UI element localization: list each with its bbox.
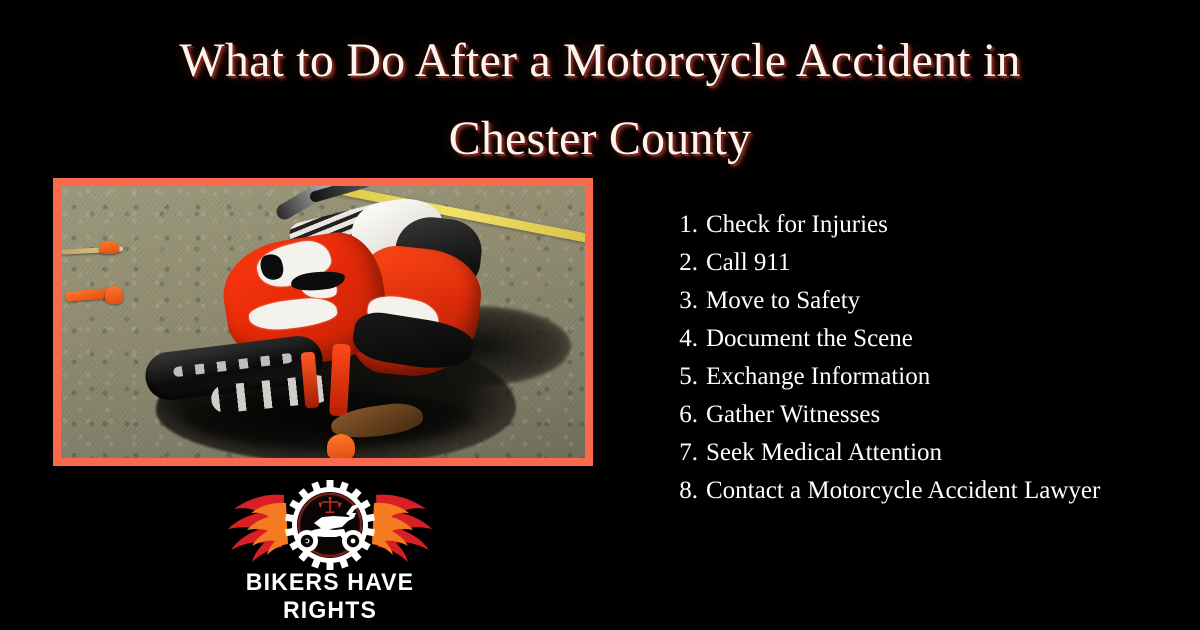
list-item-label: Move to Safety	[706, 282, 860, 320]
title-line-2: Chester County	[0, 100, 1200, 178]
orange-road-marker-1	[99, 241, 119, 254]
list-item-label: Document the Scene	[706, 320, 913, 358]
brand-logo: BIKERS HAVE RIGHTS	[218, 479, 442, 607]
bike-frame-strut-1	[329, 344, 351, 417]
list-item-label: Call 911	[706, 244, 791, 282]
list-item-number: 7.	[672, 434, 698, 472]
list-item-number: 1.	[672, 206, 698, 244]
list-item: 7. Seek Medical Attention	[672, 434, 1172, 472]
list-item-label: Check for Injuries	[706, 206, 888, 244]
list-item: 6. Gather Witnesses	[672, 396, 1172, 434]
wrecked-motorcycle	[153, 194, 483, 444]
list-item-label: Contact a Motorcycle Accident Lawyer	[706, 472, 1100, 510]
logo-wordmark: BIKERS HAVE RIGHTS	[222, 569, 437, 625]
orange-road-marker-4	[327, 434, 355, 458]
flame-right-icon	[372, 495, 432, 562]
logo-mark	[218, 479, 442, 571]
list-item: 4. Document the Scene	[672, 320, 1172, 358]
list-item: 3. Move to Safety	[672, 282, 1172, 320]
list-item-number: 8.	[672, 472, 698, 510]
list-item-label: Exchange Information	[706, 358, 930, 396]
list-item-number: 4.	[672, 320, 698, 358]
list-item: 5. Exchange Information	[672, 358, 1172, 396]
list-item-number: 6.	[672, 396, 698, 434]
accident-photo-frame	[53, 178, 593, 466]
list-item: 8. Contact a Motorcycle Accident Lawyer	[672, 472, 1172, 510]
page-title: What to Do After a Motorcycle Accident i…	[0, 22, 1200, 178]
list-item-number: 2.	[672, 244, 698, 282]
list-item-label: Seek Medical Attention	[706, 434, 942, 472]
list-item: 1. Check for Injuries	[672, 206, 1172, 244]
list-item-number: 3.	[672, 282, 698, 320]
flame-left-icon	[228, 495, 288, 562]
accident-photo	[61, 186, 585, 458]
steps-list: 1. Check for Injuries 2. Call 911 3. Mov…	[672, 206, 1172, 510]
orange-road-marker-3	[105, 286, 123, 304]
list-item-number: 5.	[672, 358, 698, 396]
list-item-label: Gather Witnesses	[706, 396, 880, 434]
list-item: 2. Call 911	[672, 244, 1172, 282]
graphic-canvas: What to Do After a Motorcycle Accident i…	[0, 0, 1200, 630]
title-line-1: What to Do After a Motorcycle Accident i…	[0, 22, 1200, 100]
